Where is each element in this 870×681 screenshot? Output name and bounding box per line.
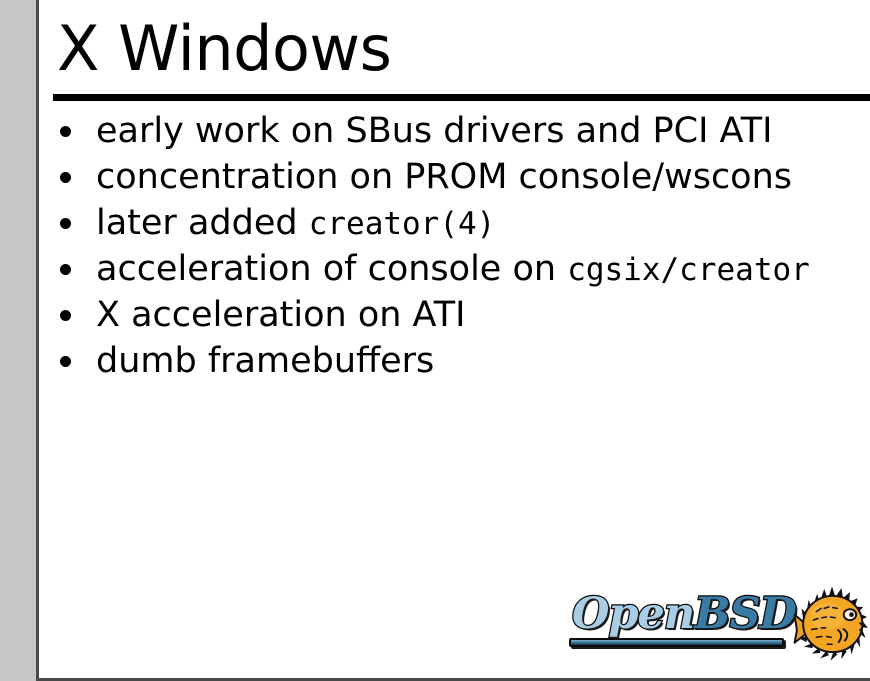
list-item-label: concentration on PROM console/wscons [96,157,792,197]
bullet-dot-icon [60,356,71,367]
bullet-dot-icon [60,264,71,275]
list-item: dumb framebuffers [53,338,870,384]
list-item-code: cgsix/creator [567,252,810,288]
list-item-label: dumb framebuffers [96,341,434,381]
bullet-dot-icon [60,310,71,321]
puffy-pufferfish-icon [792,585,870,663]
bullet-list: early work on SBus drivers and PCI ATI c… [53,108,870,384]
bullet-dot-icon [60,126,71,137]
list-item: early work on SBus drivers and PCI ATI [53,108,870,154]
openbsd-underline-bar [569,638,784,647]
openbsd-logo: OpenBSD [567,585,867,665]
openbsd-word-open: Open [572,589,694,639]
list-item-label: X acceleration on ATI [96,295,465,335]
list-item-label: early work on SBus drivers and PCI ATI [96,111,772,151]
list-item: later added creator(4) [53,200,870,246]
list-item: acceleration of console on cgsix/creator [53,246,870,292]
presentation-slide: X Windows early work on SBus drivers and… [0,0,870,681]
openbsd-word-bsd: BSD [694,589,796,639]
bullet-dot-icon [60,172,71,183]
openbsd-wordmark: OpenBSD [567,591,789,647]
left-decorative-band [0,0,36,681]
list-item-label: acceleration of console on [96,249,567,289]
list-item: X acceleration on ATI [53,292,870,338]
slide-content-area: X Windows early work on SBus drivers and… [39,0,870,678]
page-title: X Windows [57,11,391,87]
bullet-dot-icon [60,218,71,229]
openbsd-wordmark-text: OpenBSD [572,591,796,637]
list-item: concentration on PROM console/wscons [53,154,870,200]
title-underline-rule [53,94,870,101]
list-item-code: creator(4) [309,206,496,242]
list-item-label: later added [96,203,309,243]
